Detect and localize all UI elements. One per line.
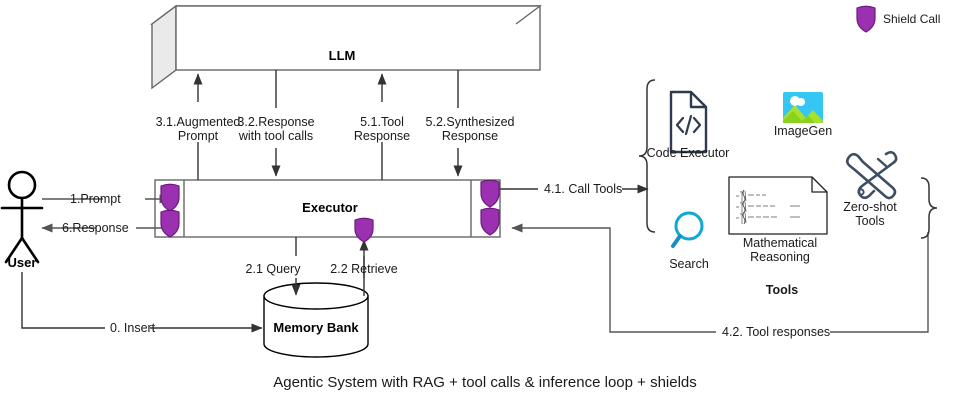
llm-label: LLM — [329, 48, 356, 63]
magnifier-icon — [673, 213, 702, 246]
edge-label-line1: 3.1.Augmented — [156, 115, 241, 129]
image-picture-icon — [783, 92, 823, 123]
tool-label-line2: Tools — [855, 214, 884, 228]
edge-label-line1: 5.1.Tool — [360, 115, 404, 129]
edge-label-line2: with tool calls — [239, 129, 313, 143]
wrench-screwdriver-icon — [847, 152, 896, 198]
legend-label: Shield Call — [883, 12, 940, 26]
tool-label-line1: Zero-shot — [843, 200, 897, 214]
edge-insert — [22, 272, 262, 328]
user-label: User — [8, 255, 37, 270]
tool-label-imagegen: ImageGen — [748, 124, 858, 138]
edge-label-tool-responses: 4.2. Tool responses — [722, 325, 830, 339]
edge-label-tool-response: 5.1.Tool Response — [354, 115, 410, 143]
edge-label-line1: 3.2.Response — [237, 115, 314, 129]
shield-icon-memory-retrieve — [355, 218, 373, 242]
edge-label-line1: 5.2.Synthesized — [426, 115, 515, 129]
diagram-caption: Agentic System with RAG + tool calls & i… — [0, 374, 970, 391]
edge-label-line2: Response — [354, 129, 410, 143]
tools-group-label: Tools — [742, 283, 822, 297]
user-actor — [2, 172, 42, 262]
edge-label-retrieve: 2.2 Retrieve — [330, 262, 397, 276]
diagram-canvas: LLM Executor Memory Bank User 3.1.Augmen… — [0, 0, 970, 411]
edge-label-line2: Response — [442, 129, 498, 143]
edge-label-insert: 0. Insert — [110, 321, 155, 335]
edge-label-line2: Prompt — [178, 129, 218, 143]
edge-label-response: 6.Response — [62, 221, 129, 235]
math-document-icon — [729, 177, 827, 234]
tool-label-line1: Mathematical — [743, 236, 817, 250]
tools-right-brace — [921, 178, 937, 238]
edge-label-response-with-tool-calls: 3.2.Response with tool calls — [237, 115, 314, 143]
edge-label-synthesized-response: 5.2.Synthesized Response — [426, 115, 515, 143]
tool-label-zero-shot-tools: Zero-shot Tools — [825, 200, 915, 228]
edge-label-augmented-prompt: 3.1.Augmented Prompt — [156, 115, 241, 143]
tool-label-mathematical-reasoning: Mathematical Reasoning — [715, 236, 845, 264]
tool-label-code-executor: Code Executor — [628, 146, 748, 160]
edge-label-query: 2.1 Query — [246, 262, 301, 276]
shield-icon-legend — [857, 6, 875, 32]
executor-label: Executor — [302, 200, 358, 215]
memory-bank-label: Memory Bank — [273, 320, 358, 335]
edge-label-call-tools: 4.1. Call Tools — [544, 182, 622, 196]
edge-label-prompt: 1.Prompt — [70, 192, 121, 206]
code-document-icon — [671, 92, 706, 152]
tool-label-line2: Reasoning — [750, 250, 810, 264]
llm-node — [152, 6, 540, 88]
